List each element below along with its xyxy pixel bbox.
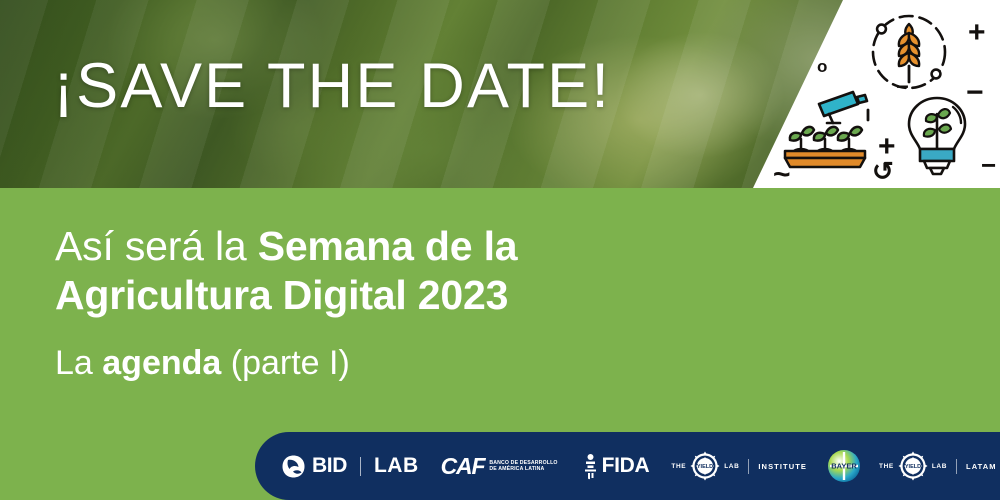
yli-divider bbox=[748, 459, 749, 474]
logo-caf: CAF BANCO DE DESARROLLO DE AMÉRICA LATIN… bbox=[441, 453, 558, 480]
yield-emblem-text: YIELD bbox=[697, 464, 713, 470]
yield-lab-gear-icon-2: YIELD bbox=[898, 451, 928, 481]
lab-wordmark: LAB bbox=[374, 454, 419, 478]
logo-fida: FIDA bbox=[582, 453, 650, 480]
bid-globe-leaf-icon bbox=[281, 454, 306, 479]
wheat-orbit-icon bbox=[865, 8, 953, 96]
yll-divider bbox=[956, 459, 957, 474]
subline-bold: agenda bbox=[102, 344, 221, 382]
yli-lab: LAB bbox=[724, 463, 739, 470]
caf-tagline-line2: DE AMÉRICA LATINA bbox=[489, 466, 557, 472]
circle-symbol: o bbox=[817, 58, 827, 75]
bid-lab-divider bbox=[360, 457, 361, 476]
minus-symbol-1: − bbox=[966, 78, 984, 108]
logo-bayer: BAYER bbox=[827, 449, 861, 483]
seedling-planter-icon bbox=[781, 118, 869, 170]
yli-the: THE bbox=[671, 463, 686, 470]
yli-unit: INSTITUTE bbox=[758, 462, 807, 471]
bayer-wordmark: BAYER bbox=[831, 462, 857, 471]
save-the-date-banner: ¡SAVE THE DATE! bbox=[0, 0, 1000, 500]
lightbulb-plant-icon bbox=[901, 94, 973, 176]
yll-unit: LATAM bbox=[966, 462, 997, 471]
fida-wordmark: FIDA bbox=[602, 454, 650, 478]
yield-emblem-text-2: YIELD bbox=[905, 464, 921, 470]
sponsor-logo-bar: BID LAB CAF BANCO DE DESARROLLO DE AMÉRI… bbox=[255, 432, 1000, 500]
yield-lab-gear-icon: YIELD bbox=[690, 451, 720, 481]
yll-lab: LAB bbox=[932, 463, 947, 470]
minus-symbol-3: − bbox=[981, 152, 996, 178]
caf-tagline: BANCO DE DESARROLLO DE AMÉRICA LATINA bbox=[489, 460, 557, 473]
headline-bold-line2: Agricultura Digital 2023 bbox=[55, 272, 508, 318]
yll-the: THE bbox=[879, 463, 894, 470]
plus-symbol-1: + bbox=[968, 18, 986, 48]
headline: Así será la Semana de la Agricultura Dig… bbox=[55, 222, 755, 320]
bid-wordmark: BID bbox=[312, 454, 347, 478]
headline-lead: Así será la bbox=[55, 223, 258, 269]
logo-yield-lab-institute: THE YIELD LAB INSTITUTE bbox=[671, 451, 807, 481]
logo-bid-lab: BID LAB bbox=[281, 454, 419, 479]
subline: La agenda (parte I) bbox=[55, 342, 350, 384]
tilde-symbol: ~ bbox=[773, 160, 791, 190]
caf-wordmark: CAF bbox=[441, 453, 485, 480]
subline-suffix: (parte I) bbox=[221, 344, 349, 382]
fida-emblem-icon bbox=[582, 453, 599, 480]
rotate-symbol: ↻ bbox=[872, 158, 894, 184]
bayer-cross-icon: BAYER bbox=[827, 449, 861, 483]
subline-prefix: La bbox=[55, 344, 102, 382]
logo-yield-lab-latam: THE YIELD LAB LATAM bbox=[879, 451, 997, 481]
headline-bold-line1: Semana de la bbox=[258, 223, 518, 269]
agritech-icon-cluster: + − − + ~ o ↻ − bbox=[755, 0, 1000, 188]
save-the-date-title: ¡SAVE THE DATE! bbox=[53, 53, 611, 119]
minus-symbol-2: − bbox=[896, 76, 909, 98]
